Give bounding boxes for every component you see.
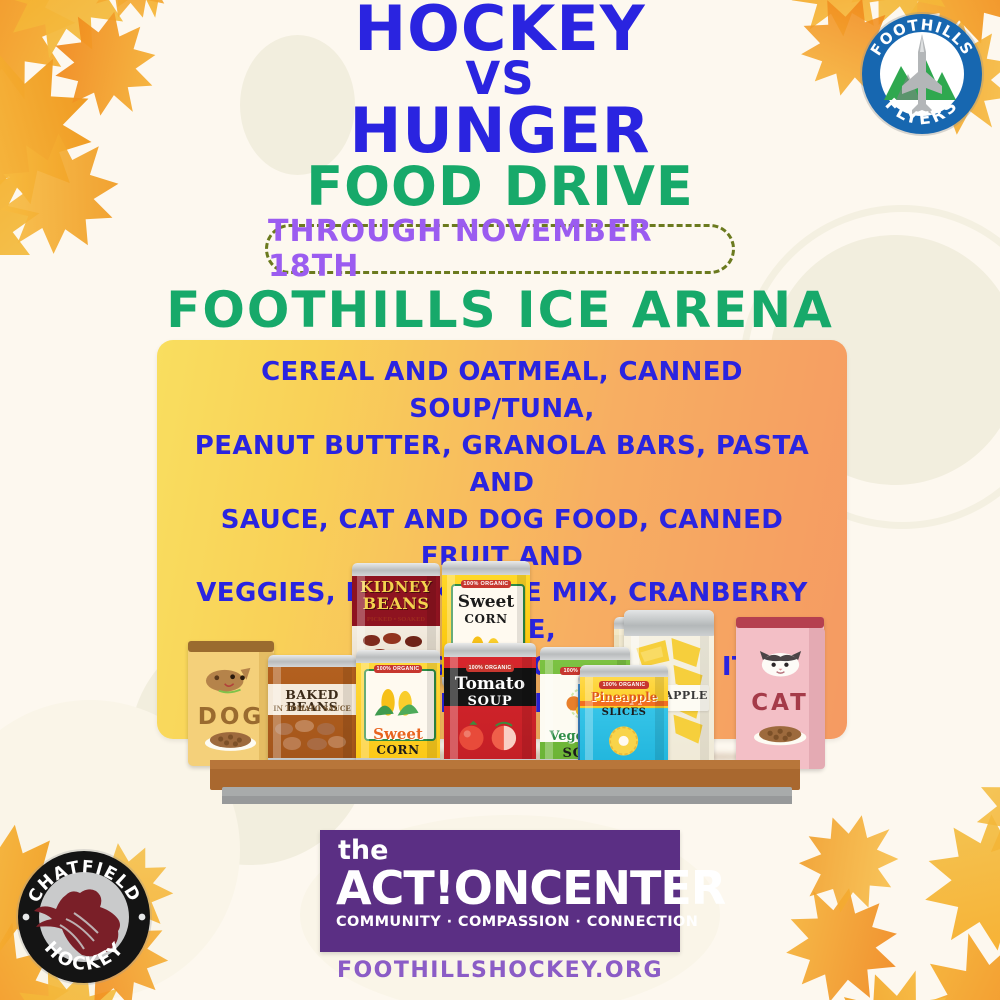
food-donation-illustration: KIDNEY BEANS PICKED • SOAKED PREMIUM QUA… [180,555,830,825]
organic-badge: 100% ORGANIC [374,665,421,673]
baked-beans-can: BAKED BEANS IN TOMATO SAUCE [268,655,356,767]
tomato-soup-can: 100% ORGANIC Tomato SOUP [444,643,536,769]
organic-badge: 100% ORGANIC [461,580,510,588]
sweet-corn-can: 100% ORGANIC Sweet CORN [356,650,440,767]
donation-list-line: CEREAL AND OATMEAL, CANNED SOUP/TUNA, [177,354,827,428]
pineapple-slices-can: 100% ORGANIC Pineapple SLICES [580,665,668,770]
poster-canvas: HOCKEY VS HUNGER FOOD DRIVE THROUGH NOVE… [0,0,1000,1000]
poster-subtitle: FOOD DRIVE [0,160,1000,214]
wooden-shelf [210,760,800,790]
cat-food-bag: CAT [736,617,824,769]
donation-list-line: PEANUT BUTTER, GRANOLA BARS, PASTA AND [177,428,827,502]
website-url: FOOTHILLSHOCKEY.ORG [0,958,1000,983]
date-badge-label: THROUGH NOVEMBER 18TH [268,214,732,284]
action-center-tagline: COMMUNITY · COMPASSION · CONNECTION [336,914,664,930]
shelf-base [222,787,792,804]
foothills-flyers-logo: FOOTHILLS FLYERS [856,8,988,140]
organic-badge: 100% ORGANIC [466,664,514,672]
dog-food-bag: DOG [188,641,274,766]
date-badge: THROUGH NOVEMBER 18TH [265,224,735,274]
action-center-name: ACT!ONCENTER [336,865,664,911]
location-title: FOOTHILLS ICE ARENA [0,285,1000,335]
poster-title-line1: HOCKEY [0,0,1000,60]
cat-bag-label: CAT [736,690,824,716]
action-center-the: the [338,838,664,864]
organic-badge: 100% ORGANIC [599,681,648,689]
action-center-logo: the ACT!ONCENTER COMMUNITY · COMPASSION … [320,830,680,952]
poster-title-line3: HUNGER [0,100,1000,162]
